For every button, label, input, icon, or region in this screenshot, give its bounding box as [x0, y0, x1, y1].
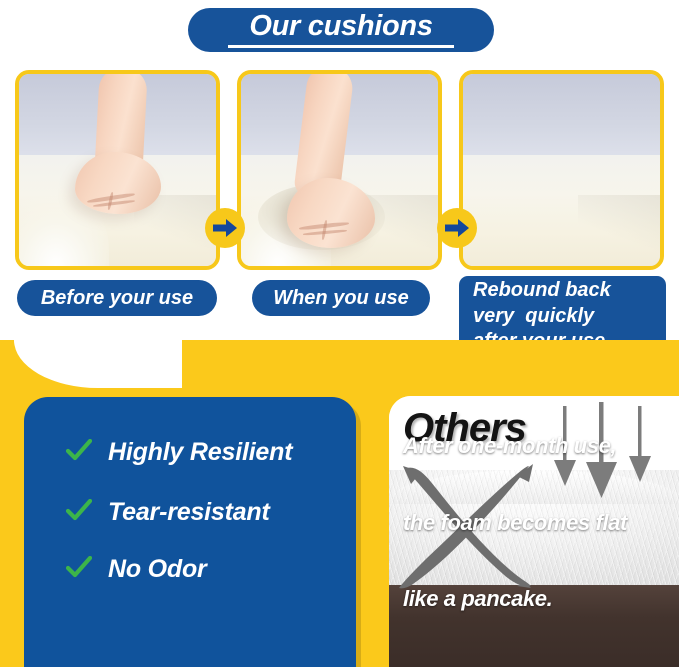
page-title: Our cushions	[249, 12, 432, 41]
check-icon	[66, 556, 92, 583]
caption-line: Rebound back	[473, 278, 611, 304]
others-caption: After one-month use, the foam becomes fl…	[403, 396, 627, 663]
arrow-right-icon	[212, 217, 238, 239]
infographic-page: Our cushions	[0, 0, 679, 667]
photo-background-wall	[463, 74, 660, 162]
demo-photo-1	[15, 70, 220, 270]
others-caption-line: After one-month use,	[403, 433, 627, 459]
demo-photo-row	[0, 70, 679, 270]
caption-line: very quickly	[473, 304, 594, 330]
others-caption-line: like a pancake.	[403, 586, 627, 612]
caption-text: When you use	[273, 287, 409, 310]
caption-text: Before your use	[41, 287, 193, 310]
scene-fist-pressing-into-foam	[241, 74, 438, 266]
demo-photo-3	[459, 70, 664, 270]
scene-fist-resting-on-foam	[19, 74, 216, 266]
features-card: Highly Resilient Tear-resistant No Odor	[24, 397, 356, 667]
feature-item-no-odor: No Odor	[66, 555, 207, 584]
foam-shadow	[578, 195, 664, 266]
feature-label: No Odor	[108, 555, 207, 584]
feature-item-highly-resilient: Highly Resilient	[66, 438, 292, 467]
caption-before-your-use: Before your use	[17, 280, 217, 316]
others-comparison-card: Others	[389, 396, 679, 667]
feature-item-tear-resistant: Tear-resistant	[66, 498, 270, 527]
check-icon	[66, 499, 92, 526]
step-arrow-1	[205, 208, 245, 248]
caption-when-you-use: When you use	[252, 280, 430, 316]
arrow-right-icon	[444, 217, 470, 239]
check-icon	[66, 439, 92, 466]
demo-photo-2	[237, 70, 442, 270]
page-title-banner: Our cushions	[188, 8, 494, 52]
title-underline	[228, 45, 454, 48]
foam-slab	[459, 155, 664, 266]
scene-foam-rebounded-flat	[463, 74, 660, 266]
step-arrow-2	[437, 208, 477, 248]
feature-label: Highly Resilient	[108, 438, 292, 467]
others-caption-line: the foam becomes flat	[403, 510, 627, 536]
feature-label: Tear-resistant	[108, 498, 270, 527]
